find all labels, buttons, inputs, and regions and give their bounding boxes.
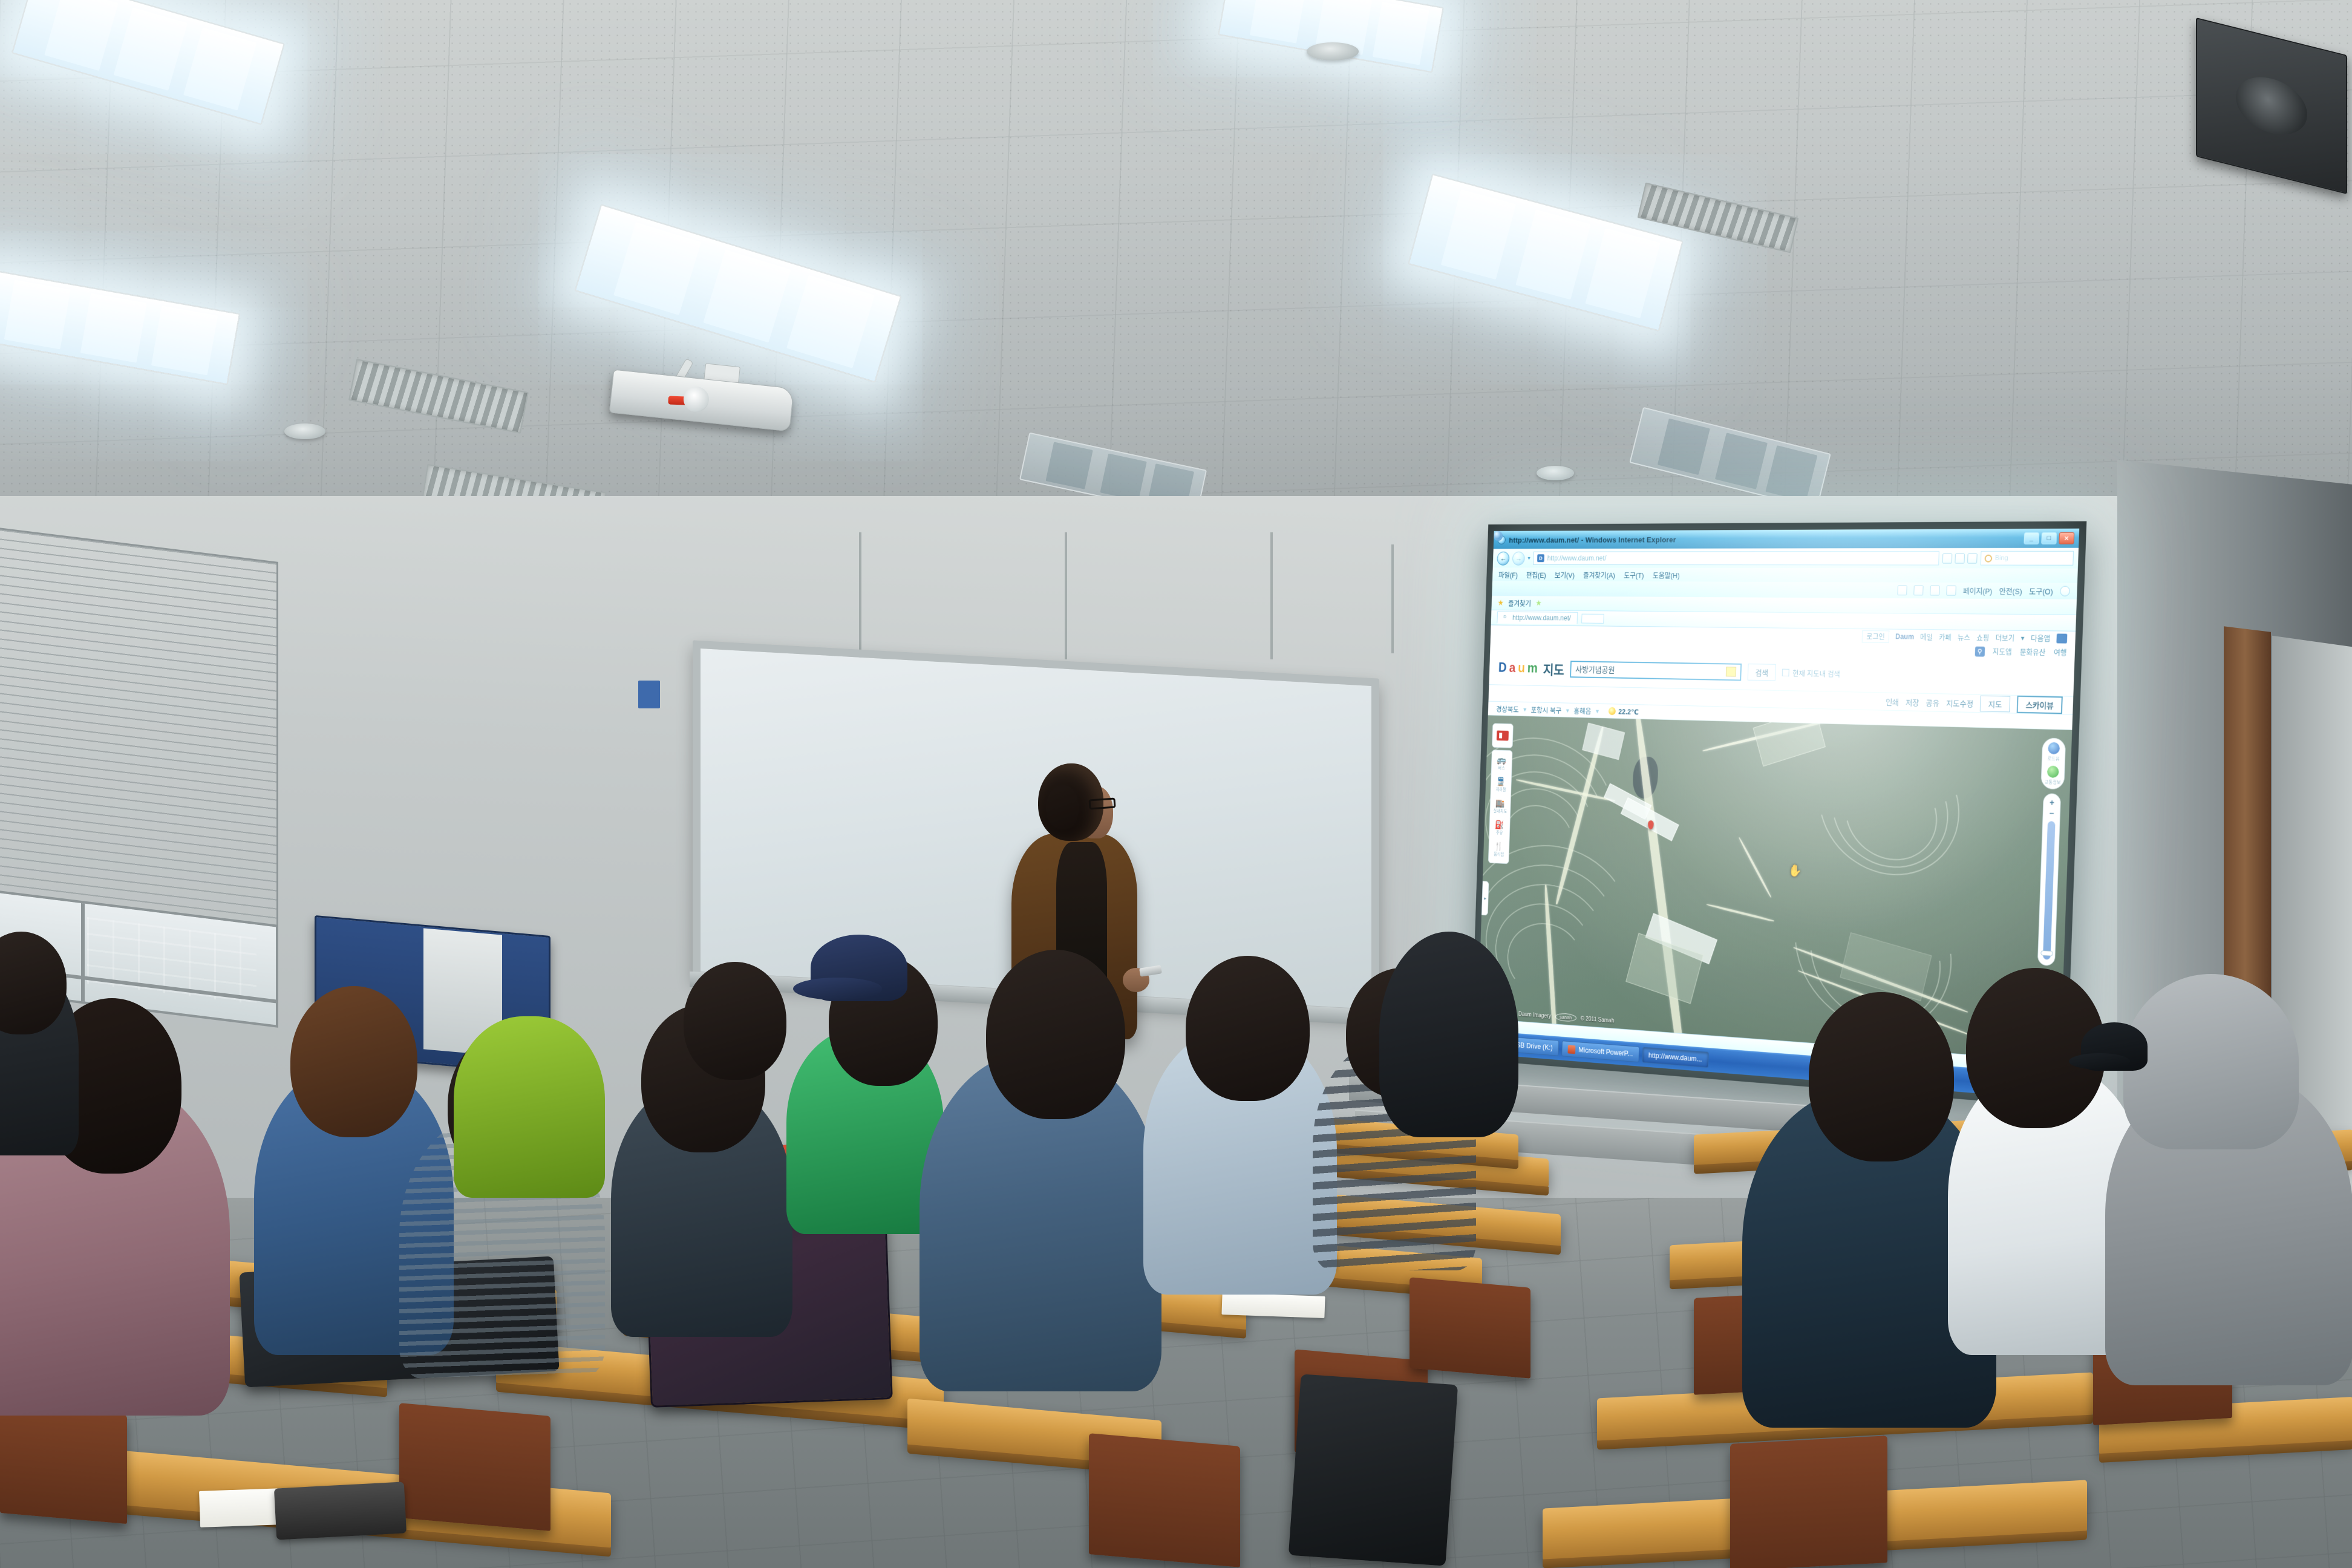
map-category-bus[interactable]: 🚌 버스 (1492, 753, 1511, 774)
menu-item-tools[interactable]: 도구(T) (1624, 569, 1644, 580)
map-category-label: 실내지도 (1493, 808, 1507, 814)
nav-shopping[interactable]: 쇼핑 (1976, 632, 1990, 642)
stop-icon[interactable] (1967, 553, 1978, 563)
menu-item-help[interactable]: 도움말(H) (1653, 569, 1680, 580)
instructor-glasses (1088, 797, 1116, 809)
view-mode-map-button[interactable]: 지도 (1980, 696, 2010, 713)
taskbar-label: http://www.daum... (1648, 1051, 1702, 1063)
search-icon (1985, 554, 1993, 562)
site-favicon-icon: D (1537, 554, 1544, 562)
compatibility-view-icon[interactable] (1942, 553, 1953, 563)
help-icon[interactable] (2060, 586, 2070, 596)
taskbar-item-browser[interactable]: http://www.daum... (1642, 1047, 1708, 1068)
breadcrumb-province[interactable]: 경상북도 (1496, 703, 1519, 714)
daum-app-label[interactable]: 다음앱 (2031, 633, 2051, 643)
ceiling (0, 0, 2352, 544)
hand-cursor-icon: ✋ (1788, 863, 1802, 878)
sun-icon (1609, 707, 1616, 715)
logo-letter-a: a (1509, 661, 1515, 676)
action-edit-map[interactable]: 지도수정 (1946, 697, 1974, 709)
maximize-button[interactable]: □ (2041, 532, 2057, 544)
search-button[interactable]: 검색 (1748, 664, 1776, 681)
traffic-label: 교통정보 (2045, 779, 2061, 786)
map-search-value: 사방기념공원 (1575, 664, 1615, 676)
refresh-icon[interactable] (1955, 553, 1965, 563)
student-head (986, 950, 1125, 1119)
map-category-label: 지하철 (1495, 786, 1506, 793)
building (1582, 723, 1625, 760)
wall-panel-seam (1270, 532, 1273, 659)
pencil-case[interactable] (274, 1481, 407, 1540)
map-category-label: 주유 (1496, 829, 1503, 836)
logo-suffix: 지도 (1543, 659, 1564, 678)
forward-button[interactable]: → (1512, 551, 1525, 565)
checkbox-label: 현재 지도내 검색 (1792, 667, 1840, 679)
address-bar[interactable]: D http://www.daum.net/ (1533, 551, 1939, 566)
command-bar-spacer (1498, 589, 1890, 590)
browser-search-box[interactable]: Bing (1981, 551, 2074, 566)
tab-heritage[interactable]: 문화유산 (2020, 647, 2046, 657)
student-chair[interactable] (1089, 1433, 1240, 1567)
student-chair[interactable] (1730, 1436, 1887, 1568)
weather-temperature: 22.2℃ (1618, 707, 1639, 716)
student-chair[interactable] (1410, 1277, 1530, 1378)
road-main (1632, 715, 1693, 1061)
bus-icon: 🚌 (1497, 756, 1507, 765)
map-category-list: 🚌 버스 🚆 지하철 🏬 실내지도 (1488, 750, 1512, 864)
map-category-restaurant[interactable]: 🍴 음식점 (1489, 839, 1509, 860)
student-chair[interactable] (399, 1403, 550, 1531)
bag-under-desk (1289, 1374, 1458, 1566)
window-titlebar: http://www.daum.net/ - Windows Internet … (1494, 529, 2079, 549)
map-category-fuel[interactable]: ⛽ 주유 (1490, 818, 1509, 839)
map-category-label: 버스 (1498, 765, 1505, 771)
ceiling-texture (0, 0, 2352, 544)
provider-copyright: © 2011 Samah (1581, 1016, 1615, 1024)
student-hoodie (2123, 974, 2299, 1149)
app-badge-icon[interactable] (2056, 633, 2067, 643)
action-share[interactable]: 공유 (1926, 697, 1939, 708)
road-trail (1738, 837, 1772, 898)
classroom-scene: http://www.daum.net/ - Windows Internet … (0, 0, 2352, 1568)
chevron-down-icon[interactable]: ▾ (1523, 705, 1527, 713)
minimize-button[interactable]: _ (2024, 532, 2039, 544)
sidebar-collapse-button[interactable]: ▸ (1481, 881, 1489, 915)
student-head (1186, 956, 1310, 1101)
menu-item-favorites[interactable]: 즐겨찾기(A) (1583, 569, 1615, 580)
student-chair[interactable] (0, 1404, 127, 1524)
field-plot (1753, 715, 1826, 766)
history-dropdown-icon[interactable]: ▾ (1527, 555, 1530, 561)
home-icon[interactable] (1897, 586, 1907, 596)
login-button[interactable]: 로그인 (1862, 630, 1890, 642)
browser-tab[interactable]: D http://www.daum.net/ (1497, 612, 1577, 625)
taskbar-label: Microsoft PowerP... (1578, 1046, 1633, 1058)
weather-widget: 22.2℃ (1609, 707, 1639, 716)
read-mail-icon[interactable] (1930, 586, 1939, 596)
chevron-down-icon[interactable]: ▾ (1566, 706, 1570, 714)
search-placeholder: Bing (1995, 555, 2008, 562)
window-controls: _ □ ✕ (2024, 532, 2074, 544)
favorites-label[interactable]: 즐겨찾기 (1508, 598, 1531, 609)
student-head (684, 962, 786, 1080)
roadview-flag-icon (1497, 731, 1509, 741)
tab-title: http://www.daum.net/ (1512, 614, 1571, 622)
action-save[interactable]: 저장 (1906, 696, 1919, 708)
command-tools[interactable]: 도구(O) (2029, 585, 2053, 596)
command-safety[interactable]: 안전(S) (1999, 585, 2022, 596)
zoom-out-button[interactable]: − (2045, 808, 2058, 819)
road-trail (1707, 903, 1775, 922)
feeds-icon[interactable] (1913, 586, 1923, 596)
breadcrumb-town[interactable]: 흥해읍 (1573, 705, 1591, 716)
command-page[interactable]: 페이지(P) (1963, 585, 1993, 596)
subway-icon: 🚆 (1497, 777, 1506, 786)
menu-item-file[interactable]: 파일(F) (1498, 569, 1518, 580)
zoom-control: + − (2037, 793, 2061, 966)
wall-panel-seam (1391, 544, 1394, 653)
provider-logo: sanah (1555, 1013, 1576, 1022)
address-value: http://www.daum.net/ (1547, 554, 1607, 562)
logo-letter-u: u (1518, 661, 1525, 676)
logo-letter-m: m (1527, 661, 1538, 676)
daum-brand[interactable]: Daum (1895, 632, 1914, 641)
add-favorite-icon[interactable]: ★ (1535, 598, 1542, 608)
map-category-indoor[interactable]: 🏬 실내지도 (1491, 796, 1510, 817)
favorites-star-icon[interactable]: ★ (1497, 598, 1504, 608)
zoom-slider-thumb[interactable] (2040, 950, 2053, 956)
fuel-icon: ⛽ (1495, 821, 1504, 829)
roadview-label: 로드뷰 (2047, 756, 2059, 763)
building-icon: 🏬 (1495, 799, 1505, 808)
view-mode-skyview-button[interactable]: 스카이뷰 (2017, 696, 2063, 714)
menu-item-view[interactable]: 보기(V) (1555, 569, 1575, 580)
restaurant-icon: 🍴 (1494, 842, 1504, 851)
brick-wall-outside (87, 917, 256, 1004)
checkbox-box (1782, 669, 1789, 677)
student-body (454, 1016, 605, 1198)
action-print[interactable]: 인쇄 (1886, 696, 1900, 707)
close-button[interactable]: ✕ (2059, 532, 2074, 544)
new-tab-button[interactable] (1581, 613, 1604, 623)
zoom-slider-track[interactable] (2042, 821, 2055, 959)
print-icon[interactable] (1946, 586, 1956, 596)
map-pin-icon: ⚲ (1975, 646, 1985, 656)
tab-favicon-icon: D (1503, 614, 1509, 621)
window-mullion (81, 903, 85, 1002)
student-head (1809, 992, 1954, 1161)
nav-more[interactable]: 더보기 (1995, 633, 2014, 643)
wall-panel-seam (859, 532, 861, 659)
nav-cafe[interactable]: 카페 (1939, 632, 1952, 642)
breadcrumb-city[interactable]: 포항시 북구 (1530, 704, 1561, 715)
browser-navigation-bar: ← → ▾ D http://www.daum.net/ Bing (1493, 548, 2079, 569)
nav-news[interactable]: 뉴스 (1958, 632, 1970, 642)
powerpoint-icon (1567, 1045, 1575, 1054)
map-search-input[interactable]: 사방기념공원 (1570, 661, 1742, 681)
menu-item-edit[interactable]: 편집(E) (1526, 569, 1546, 580)
roadview-icon[interactable] (2048, 742, 2060, 754)
address-bar-icons (1942, 553, 1978, 563)
window-blind[interactable] (0, 527, 278, 949)
nav-mail[interactable]: 메일 (1920, 632, 1933, 642)
smoke-detector (284, 423, 325, 439)
roadview-toggle-button[interactable] (1492, 723, 1514, 748)
zoom-in-button[interactable]: + (2045, 797, 2059, 808)
map-category-label: 음식점 (1494, 851, 1504, 858)
wall-sticker (638, 681, 660, 708)
student-hoodie (1379, 932, 1518, 1137)
taskbar-item-powerpoint[interactable]: Microsoft PowerP... (1561, 1040, 1639, 1062)
daum-map-logo[interactable]: Daum 지도 (1498, 658, 1564, 678)
student-cap (2081, 1022, 2148, 1071)
map-right-toolbar: 로드뷰 교통정보 + − (2033, 737, 2066, 1005)
smoke-detector (1307, 42, 1359, 60)
search-in-current-map-checkbox[interactable]: 현재 지도내 검색 (1782, 667, 1840, 679)
paper-sheet (1221, 1293, 1325, 1318)
tab-map-app[interactable]: 지도앱 (1993, 647, 2012, 657)
map-category-subway[interactable]: 🚆 지하철 (1491, 774, 1511, 795)
tab-travel[interactable]: 여행 (2054, 647, 2067, 658)
wall-panel-seam (1065, 532, 1067, 659)
chevron-down-icon[interactable]: ▾ (2020, 634, 2024, 642)
traffic-icon[interactable] (2047, 765, 2059, 778)
map-layer-toggles: 로드뷰 교통정보 (2040, 737, 2066, 789)
back-button[interactable]: ← (1497, 551, 1509, 565)
chevron-down-icon[interactable]: ▾ (1596, 707, 1599, 715)
student-cap (811, 935, 907, 1001)
window-title: http://www.daum.net/ - Windows Internet … (1509, 535, 1676, 544)
logo-letter-d: D (1498, 660, 1507, 675)
keyboard-icon[interactable] (1726, 667, 1736, 676)
student-head (290, 986, 417, 1137)
smoke-detector (1537, 466, 1574, 480)
